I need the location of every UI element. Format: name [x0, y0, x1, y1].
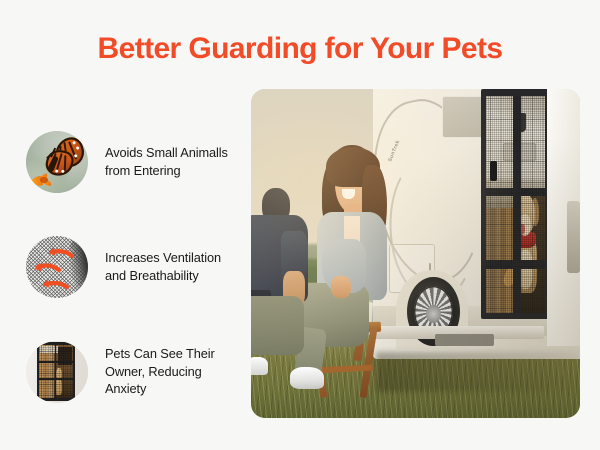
feature-label-line2: from Entering: [105, 163, 181, 178]
feature-label-line2: and Breathability: [105, 268, 199, 283]
screen-mesh: [486, 96, 545, 313]
feature-label-line1: Increases Ventilation: [105, 250, 221, 265]
feature-label-line3: Anxiety: [105, 381, 146, 396]
feature-label: Pets Can See Their Owner, Reducing Anxie…: [105, 345, 255, 398]
mesh-airflow-icon: [26, 236, 88, 298]
feature-item-pets-can-see-owner: Pets Can See Their Owner, Reducing Anxie…: [26, 341, 241, 446]
page-title: Better Guarding for Your Pets: [0, 30, 600, 68]
dog-behind-screen-door-icon: [26, 341, 88, 403]
airflow-arrows-icon: [26, 236, 88, 298]
rv-campsite-photo: SunTrek: [251, 89, 580, 418]
feature-label-line1: Pets Can See Their: [105, 346, 215, 361]
butterfly-on-flower-icon: [26, 131, 88, 193]
promo-banner: Better Guarding for Your Pets: [0, 0, 600, 450]
feature-label: Increases Ventilation and Breathability: [105, 249, 255, 284]
seated-man: [251, 188, 310, 385]
feature-label-line2: Owner, Reducing: [105, 364, 202, 379]
feature-label-line1: Avoids Small Animalls: [105, 145, 228, 160]
feature-item-avoids-small-animals: Avoids Small Animalls from Entering: [26, 131, 241, 236]
feature-label: Avoids Small Animalls from Entering: [105, 144, 255, 179]
feature-list: Avoids Small Animalls from Entering: [26, 131, 241, 446]
feature-item-increases-ventilation: Increases Ventilation and Breathability: [26, 236, 241, 341]
